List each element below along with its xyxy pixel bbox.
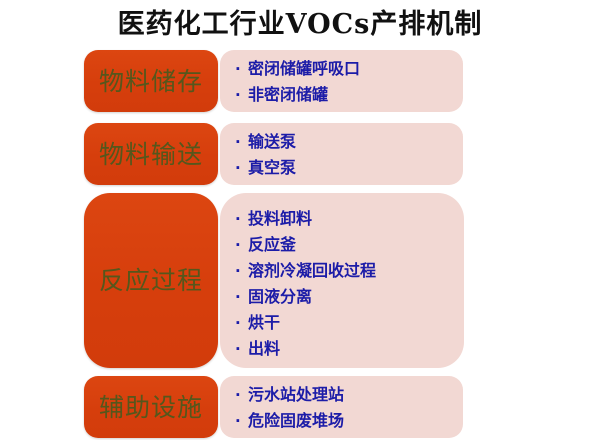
list-item-label: 输送泵 [248, 132, 296, 151]
bullet-icon: · [235, 337, 248, 362]
list-item-label: 出料 [248, 339, 280, 358]
category-label: 物料储存 [99, 69, 203, 94]
list-item-label: 污水站处理站 [248, 385, 344, 404]
list-item-label: 反应釜 [248, 235, 296, 254]
bullet-icon: · [235, 233, 248, 258]
process-row-material-storage: 物料储存 ·密闭储罐呼吸口 ·非密闭储罐 [84, 50, 463, 112]
category-box[interactable]: 反应过程 [84, 193, 218, 368]
diagram-canvas: 医药化工行业VOCs产排机制 物料储存 ·密闭储罐呼吸口 ·非密闭储罐 物料输送… [0, 0, 600, 440]
list-item: ·出料 [235, 336, 376, 362]
detail-list: ·输送泵 ·真空泵 [235, 129, 296, 181]
category-box[interactable]: 辅助设施 [84, 376, 218, 438]
bullet-icon: · [235, 207, 248, 232]
bullet-icon: · [235, 156, 248, 181]
detail-list: ·密闭储罐呼吸口 ·非密闭储罐 [235, 56, 360, 108]
list-item-label: 固液分离 [248, 287, 312, 306]
category-label: 辅助设施 [99, 395, 203, 420]
page-title: 医药化工行业VOCs产排机制 [0, 2, 600, 41]
bullet-icon: · [235, 83, 248, 108]
detail-list: ·投料卸料 ·反应釜 ·溶剂冷凝回收过程 ·固液分离 ·烘干 ·出料 [235, 206, 376, 362]
list-item-label: 危险固废堆场 [248, 411, 344, 430]
bullet-icon: · [235, 259, 248, 284]
category-label: 反应过程 [99, 268, 203, 293]
category-box[interactable]: 物料储存 [84, 50, 218, 112]
bullet-icon: · [235, 409, 248, 434]
list-item: ·真空泵 [235, 155, 296, 181]
bullet-icon: · [235, 285, 248, 310]
list-item: ·危险固废堆场 [235, 408, 344, 434]
process-row-reaction: 反应过程 ·投料卸料 ·反应釜 ·溶剂冷凝回收过程 ·固液分离 ·烘干 ·出料 [84, 193, 463, 368]
bullet-icon: · [235, 130, 248, 155]
category-label: 物料输送 [99, 142, 203, 167]
bullet-icon: · [235, 383, 248, 408]
list-item-label: 投料卸料 [248, 209, 312, 228]
process-row-auxiliary-facilities: 辅助设施 ·污水站处理站 ·危险固废堆场 [84, 376, 463, 438]
process-row-material-transfer: 物料输送 ·输送泵 ·真空泵 [84, 123, 463, 185]
bullet-icon: · [235, 57, 248, 82]
list-item: ·反应釜 [235, 232, 376, 258]
list-item: ·溶剂冷凝回收过程 [235, 258, 376, 284]
list-item: ·烘干 [235, 310, 376, 336]
bullet-icon: · [235, 311, 248, 336]
list-item-label: 密闭储罐呼吸口 [248, 59, 360, 78]
list-item: ·密闭储罐呼吸口 [235, 56, 360, 82]
list-item-label: 非密闭储罐 [248, 85, 328, 104]
list-item: ·非密闭储罐 [235, 82, 360, 108]
category-box[interactable]: 物料输送 [84, 123, 218, 185]
list-item: ·污水站处理站 [235, 382, 344, 408]
detail-list: ·污水站处理站 ·危险固废堆场 [235, 382, 344, 434]
list-item: ·投料卸料 [235, 206, 376, 232]
list-item-label: 溶剂冷凝回收过程 [248, 261, 376, 280]
list-item-label: 烘干 [248, 313, 280, 332]
list-item-label: 真空泵 [248, 158, 296, 177]
list-item: ·固液分离 [235, 284, 376, 310]
list-item: ·输送泵 [235, 129, 296, 155]
